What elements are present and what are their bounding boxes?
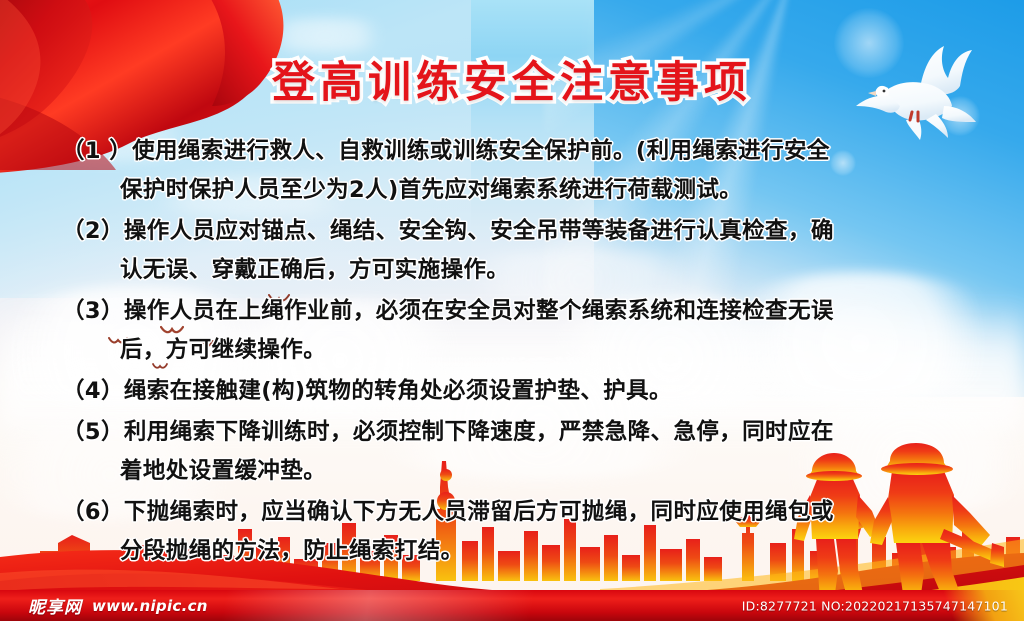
rule-line: （4）绳索在接触建(构)筑物的转角处必须设置护垫、护具。 — [62, 372, 970, 411]
rule-line: 认无误、穿戴正确后，方可实施操作。 — [62, 251, 970, 290]
list-item: （5）利用绳索下降训练时，必须控制下降速度，严禁急降、急停，同时应在 着地处设置… — [62, 413, 970, 491]
poster-canvas: 登高训练安全注意事项 （1 ）使用绳索进行救人、自救训练或训练安全保护前。(利用… — [0, 0, 1024, 621]
rule-line: 保护时保护人员至少为2人)首先应对绳索系统进行荷载测试。 — [62, 171, 970, 210]
rule-line: （5）利用绳索下降训练时，必须控制下降速度，严禁急降、急停，同时应在 — [62, 413, 970, 452]
rule-line: （1 ）使用绳索进行救人、自救训练或训练安全保护前。(利用绳索进行安全 — [62, 132, 970, 171]
asset-id-text: ID:8277721 NO:20220217135747147101 — [742, 598, 1008, 613]
nipic-url-text: www.nipic.cn — [92, 597, 208, 615]
nipic-logo: 昵享网 — [28, 593, 82, 618]
rule-line: 着地处设置缓冲垫。 — [62, 452, 970, 491]
rule-line: （2）操作人员应对锚点、绳结、安全钩、安全吊带等装备进行认真检查，确 — [62, 212, 970, 251]
list-item: （3）操作人员在上绳作业前，必须在安全员对整个绳索系统和连接检查无误 后，方可继… — [62, 292, 970, 370]
rule-line: 后，方可继续操作。 — [62, 331, 970, 370]
page-title: 登高训练安全注意事项 — [272, 48, 752, 110]
list-item: （2）操作人员应对锚点、绳结、安全钩、安全吊带等装备进行认真检查，确 认无误、穿… — [62, 212, 970, 290]
safety-rules-list: （1 ）使用绳索进行救人、自救训练或训练安全保护前。(利用绳索进行安全 保护时保… — [62, 132, 970, 573]
rule-line: （6）下抛绳索时，应当确认下方无人员滞留后方可抛绳，同时应使用绳包或 — [62, 493, 970, 532]
poster-title-container: 登高训练安全注意事项 — [0, 48, 1024, 110]
rule-line: （3）操作人员在上绳作业前，必须在安全员对整个绳索系统和连接检查无误 — [62, 292, 970, 331]
list-item: （6）下抛绳索时，应当确认下方无人员滞留后方可抛绳，同时应使用绳包或 分段抛绳的… — [62, 493, 970, 571]
rule-line: 分段抛绳的方法，防止绳索打结。 — [62, 532, 970, 571]
list-item: （1 ）使用绳索进行救人、自救训练或训练安全保护前。(利用绳索进行安全 保护时保… — [62, 132, 970, 210]
footer-watermark-bar: 昵享网 www.nipic.cn ID:8277721 NO:202202171… — [0, 590, 1024, 621]
list-item: （4）绳索在接触建(构)筑物的转角处必须设置护垫、护具。 — [62, 372, 970, 411]
